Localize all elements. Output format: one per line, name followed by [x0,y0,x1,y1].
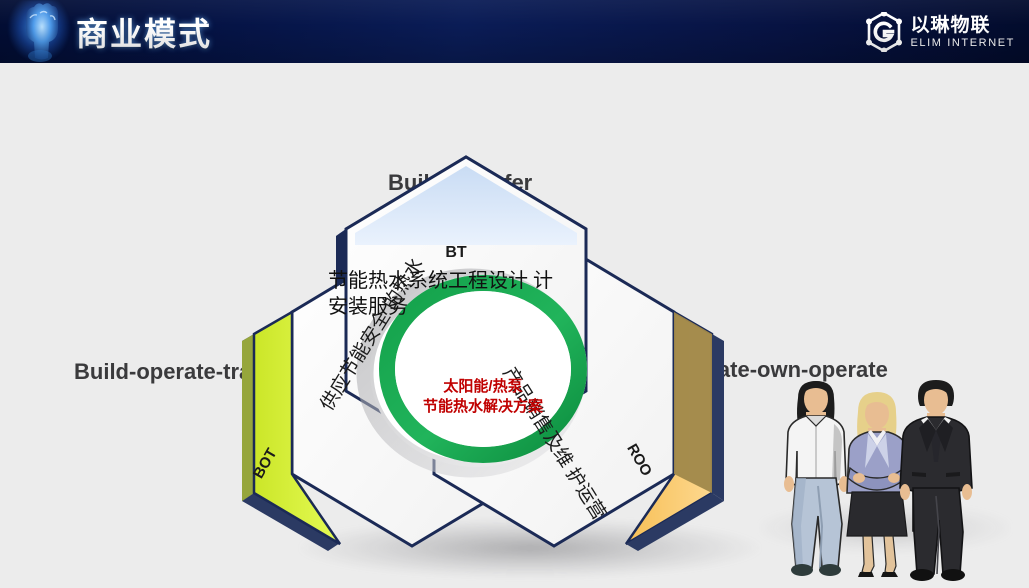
center-line-1: 太阳能/热泵 [394,377,572,397]
brand-logo: 以琳物联 ELIM INTERNET [865,11,1015,53]
person-woman-white-shirt [784,381,849,576]
three-business-people-illustration [762,368,992,583]
page-title: 商业模式 [76,9,212,55]
logo-name-en: ELIM INTERNET [910,38,1015,49]
hex-body-bt: 节能热水系统工程设计 计 安装服务 [328,269,573,320]
logo-name-cn: 以琳物联 [910,16,1015,35]
glowing-fist-icon [6,0,74,63]
hexagon-diagram: BT 节能热水系统工程设计 计 安装服务 BOT 供应节能安全 的热水 ROO … [228,141,738,551]
hexagon-g-logo-icon [865,12,903,52]
hex-tag-bt: BT [426,244,486,262]
person-man-suit [900,380,972,581]
slide-body: Build-transfer Build-operate-transfer Re… [0,63,1029,578]
app-header: 商业模式 以琳物联 ELIM INTERNET [0,0,1029,63]
center-solution-label: 太阳能/热泵 节能热水解决方案 [394,377,572,418]
center-line-2: 节能热水解决方案 [394,397,572,417]
